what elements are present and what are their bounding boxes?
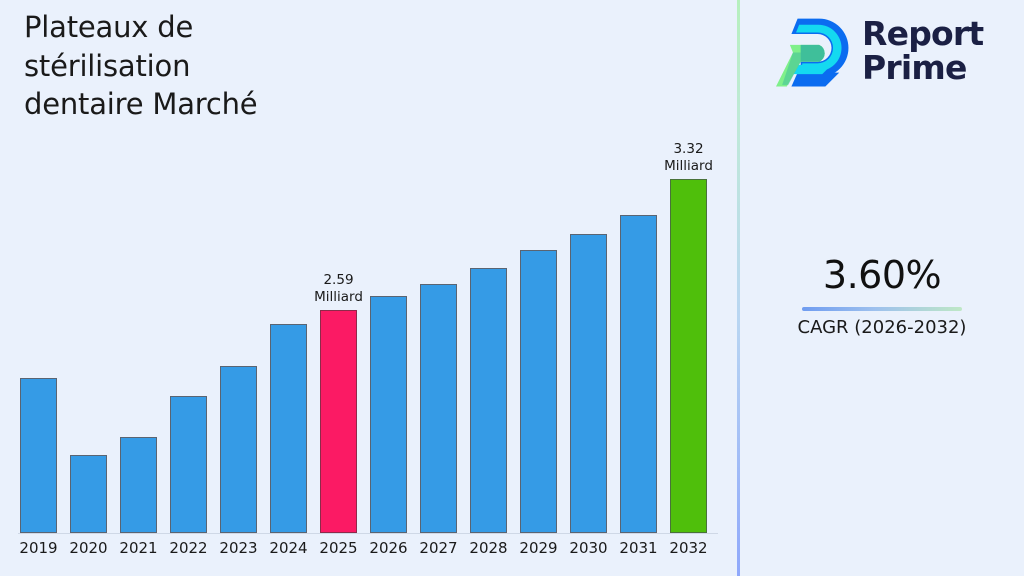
report-prime-logo-icon [774,14,852,88]
chart-panel: Plateaux de stérilisation dentaire March… [0,0,738,576]
plot-area: 2019202020212022202320242025202620272028… [0,0,738,576]
x-tick-2032: 2032 [659,539,719,557]
bar-2022 [170,396,207,533]
chart-infographic: Plateaux de stérilisation dentaire March… [0,0,1024,576]
summary-panel: Report Prime 3.60% CAGR (2026-2032) [740,0,1024,576]
cagr-value: 3.60% [740,255,1024,297]
bar-2019 [20,378,57,533]
cagr-block: 3.60% CAGR (2026-2032) [740,255,1024,338]
bar-2020 [70,455,107,533]
bar-value-label-2025: 2.59 Milliard [294,272,384,306]
bar-2032 [670,179,707,533]
bar-2024 [270,324,307,533]
report-prime-logo: Report Prime [774,12,1010,90]
bar-2027 [420,284,457,533]
bar-2021 [120,437,157,533]
cagr-divider [802,307,962,311]
report-prime-logo-text: Report Prime [862,17,983,84]
bar-2023 [220,366,257,533]
bar-2026 [370,296,407,533]
bar-2025 [320,310,357,533]
bar-2030 [570,234,607,533]
bar-2029 [520,250,557,533]
cagr-label: CAGR (2026-2032) [740,317,1024,338]
bar-2031 [620,215,657,533]
x-axis-line [18,533,718,534]
bar-value-label-2032: 3.32 Milliard [644,141,734,175]
bar-2028 [470,268,507,533]
